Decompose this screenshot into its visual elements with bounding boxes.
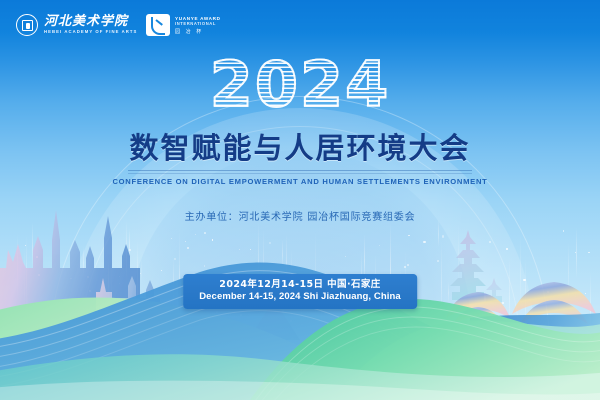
organizer-line: 主办单位：河北美术学院 园冶杯国际竞赛组委会 xyxy=(0,208,600,223)
date-line-en: December 14-15, 2024 Shi Jiazhuang, Chin… xyxy=(199,291,401,303)
date-location-badge: 2024年12月14-15日 中国·石家庄 December 14-15, 20… xyxy=(183,274,417,309)
seal-emblem-icon xyxy=(16,14,38,36)
page-title: 数智赋能与人居环境大会 xyxy=(0,128,600,168)
logo-yuanye-cn: 园 冶 杯 xyxy=(175,29,215,35)
logo-yuanye-en1: YUANYE AWARD xyxy=(175,15,221,21)
yuanye-mark-icon xyxy=(146,14,170,36)
poster-content: 2024 数智赋能与人居环境大会 CONFERENCE ON DIGITAL E… xyxy=(0,0,600,400)
page-subtitle: CONFERENCE ON DIGITAL EMPOWERMENT AND HU… xyxy=(0,177,600,186)
conference-poster: 河北美术学院 HEBEI ACADEMY OF FINE ARTS YUANYE… xyxy=(0,0,600,400)
date-line-cn: 2024年12月14-15日 中国·石家庄 xyxy=(199,279,401,291)
logo-yuanye-en2: INTERNATIONAL xyxy=(175,22,221,28)
header-logos: 河北美术学院 HEBEI ACADEMY OF FINE ARTS YUANYE… xyxy=(16,14,215,36)
logo-hebei-en: HEBEI ACADEMY OF FINE ARTS xyxy=(44,30,143,36)
logo-yuanye-cup[interactable]: YUANYE AWARD INTERNATIONAL 园 冶 杯 xyxy=(146,14,215,36)
logo-hebei-cn: 河北美术学院 xyxy=(44,15,128,29)
logo-hebei-academy[interactable]: 河北美术学院 HEBEI ACADEMY OF FINE ARTS xyxy=(16,14,128,36)
year-heading: 2024 xyxy=(0,54,600,116)
title-divider xyxy=(0,170,600,174)
